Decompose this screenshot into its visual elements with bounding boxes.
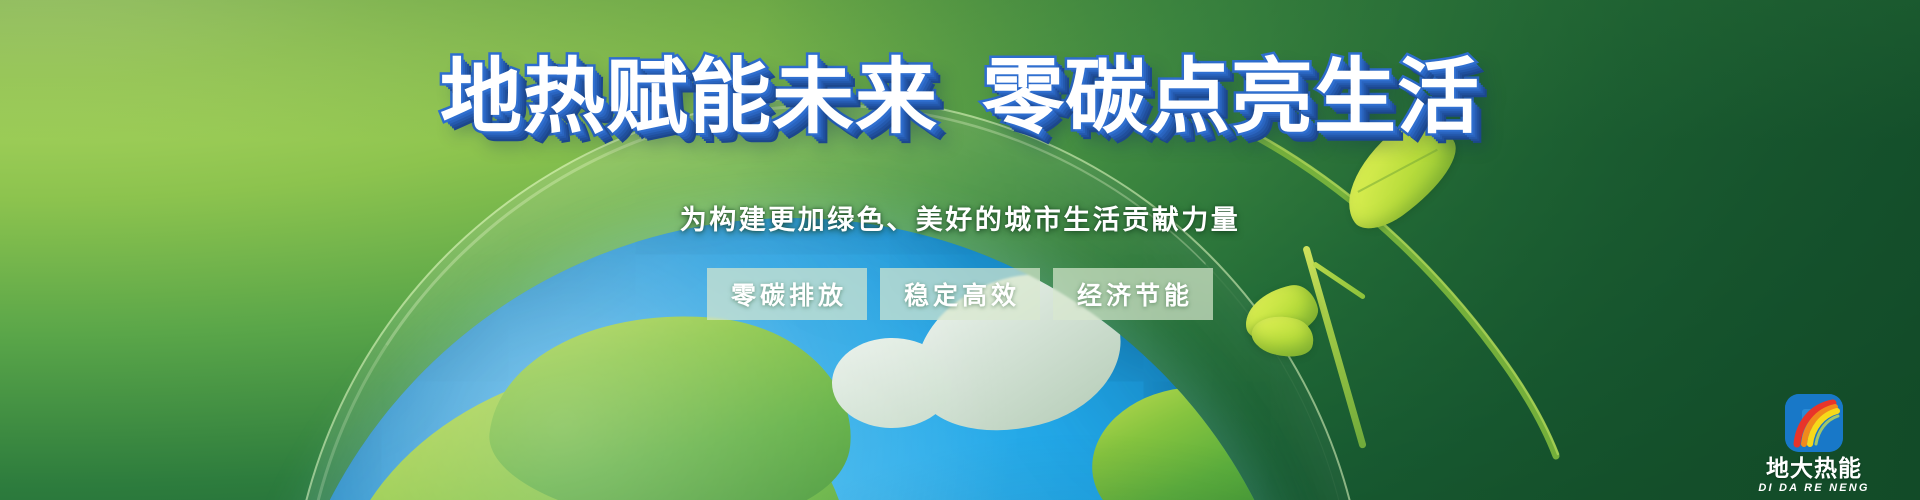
hero-banner: 地热赋能未来 零碳点亮生活 为构建更加绿色、美好的城市生活贡献力量 零碳排放 稳… — [0, 0, 1920, 500]
rainbow-arc-in-rounded-square-icon — [1785, 394, 1843, 452]
feature-tag-zero-carbon[interactable]: 零碳排放 — [707, 268, 867, 320]
logo-name-en: DI DA RE NENG — [1758, 483, 1869, 494]
subtitle: 为构建更加绿色、美好的城市生活贡献力量 — [0, 198, 1920, 237]
feature-tag-economical[interactable]: 经济节能 — [1053, 268, 1213, 320]
brand-logo[interactable]: 地大热能 DI DA RE NENG — [1744, 394, 1884, 494]
feature-tag-list: 零碳排放 稳定高效 经济节能 — [0, 268, 1920, 320]
subtitle-text: 为构建更加绿色、美好的城市生活贡献力量 — [680, 205, 1241, 235]
logo-name-cn: 地大热能 — [1766, 457, 1862, 480]
feature-tag-stable-efficient[interactable]: 稳定高效 — [880, 268, 1040, 320]
